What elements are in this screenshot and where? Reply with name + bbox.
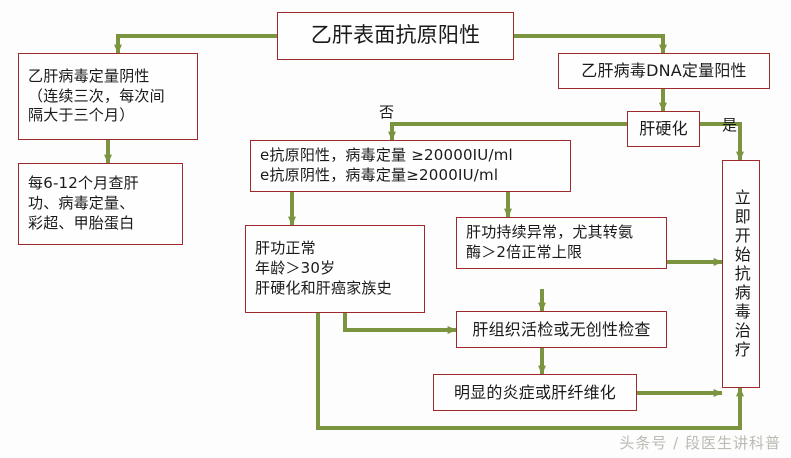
- node-normal-liver-function[interactable]: 肝功正常 年龄＞30岁 肝硬化和肝癌家族史: [245, 225, 425, 313]
- node-liver-biopsy-line-1: 肝组织活检或无创性检查: [472, 319, 650, 340]
- node-periodic-monitoring-line-2: 功、病毒定量、: [28, 194, 134, 214]
- node-inflammation-fibrosis-line-1: 明显的炎症或肝纤维化: [454, 382, 616, 403]
- node-treatment-criteria-line-1: e抗原阳性，病毒定量 ≥20000IU/ml: [260, 146, 513, 166]
- node-viral-load-negative-line-1: 乙肝病毒定量阴性: [28, 67, 150, 87]
- node-treatment-criteria-line-2: e抗原阴性，病毒定量≥2000IU/ml: [260, 166, 498, 186]
- node-inflammation-fibrosis[interactable]: 明显的炎症或肝纤维化: [433, 374, 637, 411]
- watermark: 头条号 / 段医生讲科普: [619, 432, 781, 453]
- node-abnormal-liver-function-line-2: 酶＞2倍正常上限: [466, 243, 582, 263]
- node-normal-liver-function-line-2: 年龄＞30岁: [255, 259, 335, 279]
- node-normal-liver-function-line-3: 肝硬化和肝癌家族史: [255, 279, 392, 299]
- edge-label-no: 否: [379, 101, 394, 122]
- node-hbsag-positive[interactable]: 乙肝表面抗原阳性: [277, 12, 514, 60]
- node-cirrhosis-line-1: 肝硬化: [639, 118, 688, 139]
- node-periodic-monitoring-line-3: 彩超、甲胎蛋白: [28, 214, 134, 234]
- node-viral-load-negative[interactable]: 乙肝病毒定量阴性 （连续三次，每次间 隔大于三个月）: [18, 53, 198, 140]
- node-viral-load-negative-line-3: 隔大于三个月）: [28, 106, 134, 126]
- node-hbsag-positive-line-1: 乙肝表面抗原阳性: [311, 22, 481, 50]
- edge-root-to-dna: [514, 36, 663, 53]
- node-start-antiviral-treatment-text: 立即开始抗病毒治疗: [732, 189, 750, 360]
- node-abnormal-liver-function-line-1: 肝功持续异常，尤其转氨: [466, 223, 633, 243]
- node-liver-biopsy[interactable]: 肝组织活检或无创性检查: [456, 311, 667, 348]
- edge-root-to-neg: [118, 36, 277, 53]
- node-start-antiviral-treatment[interactable]: 立即开始抗病毒治疗: [722, 160, 760, 388]
- edge-cirrhosis-to-criteria: [392, 124, 627, 140]
- node-cirrhosis[interactable]: 肝硬化: [627, 111, 700, 147]
- node-hbv-dna-positive-line-1: 乙肝病毒DNA定量阳性: [581, 60, 746, 81]
- edge-normal-to-biopsy: [345, 313, 456, 330]
- node-treatment-criteria[interactable]: e抗原阳性，病毒定量 ≥20000IU/ml e抗原阴性，病毒定量≥2000IU…: [250, 140, 571, 192]
- flowchart-canvas: 乙肝表面抗原阳性 乙肝病毒定量阴性 （连续三次，每次间 隔大于三个月） 每6-1…: [0, 0, 791, 458]
- node-periodic-monitoring-line-1: 每6-12个月查肝: [28, 174, 139, 194]
- node-viral-load-negative-line-2: （连续三次，每次间: [28, 87, 165, 107]
- node-periodic-monitoring[interactable]: 每6-12个月查肝 功、病毒定量、 彩超、甲胎蛋白: [18, 163, 183, 245]
- node-hbv-dna-positive[interactable]: 乙肝病毒DNA定量阳性: [558, 53, 770, 89]
- node-normal-liver-function-line-1: 肝功正常: [255, 239, 316, 259]
- edge-label-yes: 是: [722, 114, 737, 135]
- node-abnormal-liver-function[interactable]: 肝功持续异常，尤其转氨 酶＞2倍正常上限: [456, 217, 667, 269]
